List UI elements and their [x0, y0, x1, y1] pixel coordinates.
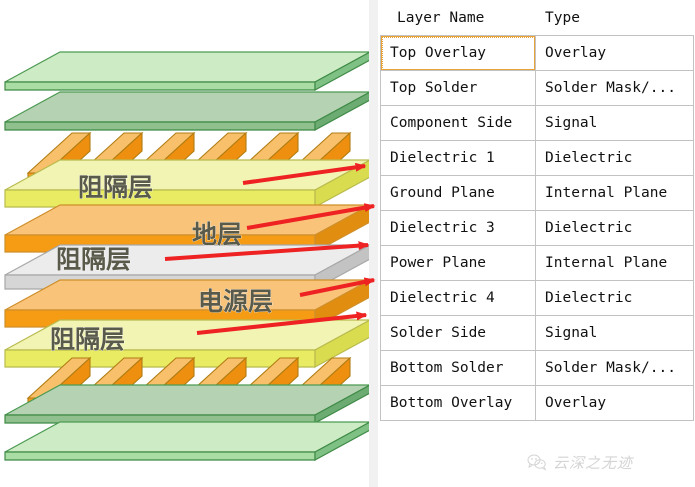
- table-header-row: Layer Name Type: [381, 1, 694, 36]
- layer-bottom-overlay-slab: [5, 422, 370, 460]
- table-row[interactable]: Dielectric 4 Dielectric: [381, 281, 694, 316]
- cell-layer-name[interactable]: Dielectric 4: [381, 281, 536, 316]
- layer-dielectric-1-slab: [5, 160, 370, 207]
- cell-layer-name[interactable]: Bottom Solder: [381, 351, 536, 386]
- cell-layer-type[interactable]: Signal: [536, 106, 694, 141]
- cell-layer-type[interactable]: Signal: [536, 316, 694, 351]
- cell-layer-type[interactable]: Internal Plane: [536, 176, 694, 211]
- table-row[interactable]: Bottom Overlay Overlay: [381, 386, 694, 421]
- screenshot-root: 阻隔层 地层 阻隔层 电源层 阻隔层 Layer Name Type Top O…: [0, 0, 695, 487]
- cell-layer-name[interactable]: Ground Plane: [381, 176, 536, 211]
- cell-layer-name[interactable]: Solder Side: [381, 316, 536, 351]
- table-row[interactable]: Top Overlay Overlay: [381, 36, 694, 71]
- cell-layer-name[interactable]: Power Plane: [381, 246, 536, 281]
- cell-layer-name[interactable]: Top Solder: [381, 71, 536, 106]
- table-row[interactable]: Dielectric 1 Dielectric: [381, 141, 694, 176]
- pcb-layer-stack-diagram: 阻隔层 地层 阻隔层 电源层 阻隔层: [0, 0, 375, 487]
- cell-layer-type[interactable]: Internal Plane: [536, 246, 694, 281]
- cell-layer-name[interactable]: Top Overlay: [381, 36, 536, 71]
- table-row[interactable]: Ground Plane Internal Plane: [381, 176, 694, 211]
- layer-stack-table: Layer Name Type Top Overlay Overlay Top …: [380, 0, 694, 421]
- cell-layer-type[interactable]: Overlay: [536, 386, 694, 421]
- cell-layer-type[interactable]: Dielectric: [536, 141, 694, 176]
- watermark-text: 云深之无迹: [553, 452, 633, 473]
- cell-layer-type[interactable]: Dielectric: [536, 281, 694, 316]
- table-row[interactable]: Solder Side Signal: [381, 316, 694, 351]
- table-row[interactable]: Dielectric 3 Dielectric: [381, 211, 694, 246]
- table-row[interactable]: Top Solder Solder Mask/...: [381, 71, 694, 106]
- table-row[interactable]: Power Plane Internal Plane: [381, 246, 694, 281]
- cell-layer-type[interactable]: Solder Mask/...: [536, 351, 694, 386]
- cell-layer-type[interactable]: Dielectric: [536, 211, 694, 246]
- cell-layer-type[interactable]: Solder Mask/...: [536, 71, 694, 106]
- label-barrier-layer-bottom: 阻隔层: [50, 325, 125, 354]
- column-header-type[interactable]: Type: [536, 1, 694, 36]
- label-ground-layer: 地层: [192, 220, 242, 249]
- cell-layer-name[interactable]: Dielectric 1: [381, 141, 536, 176]
- column-header-layer-name[interactable]: Layer Name: [381, 1, 536, 36]
- pcb-stack-svg: 阻隔层 地层 阻隔层 电源层 阻隔层: [0, 0, 375, 487]
- layer-top-overlay-slab: [5, 52, 370, 90]
- cell-layer-name[interactable]: Component Side: [381, 106, 536, 141]
- cell-layer-name[interactable]: Bottom Overlay: [381, 386, 536, 421]
- cell-layer-type[interactable]: Overlay: [536, 36, 694, 71]
- label-barrier-layer-middle: 阻隔层: [56, 245, 131, 274]
- watermark: 云深之无迹: [527, 449, 687, 475]
- layer-top-solder-slab: [5, 92, 370, 130]
- label-barrier-layer-top: 阻隔层: [78, 173, 153, 202]
- cell-layer-name[interactable]: Dielectric 3: [381, 211, 536, 246]
- table-row[interactable]: Component Side Signal: [381, 106, 694, 141]
- wechat-icon: [527, 454, 547, 471]
- label-power-layer: 电源层: [198, 287, 273, 316]
- table-row[interactable]: Bottom Solder Solder Mask/...: [381, 351, 694, 386]
- layer-bottom-solder-slab: [5, 385, 370, 423]
- layer-stack-table-panel: Layer Name Type Top Overlay Overlay Top …: [378, 0, 695, 487]
